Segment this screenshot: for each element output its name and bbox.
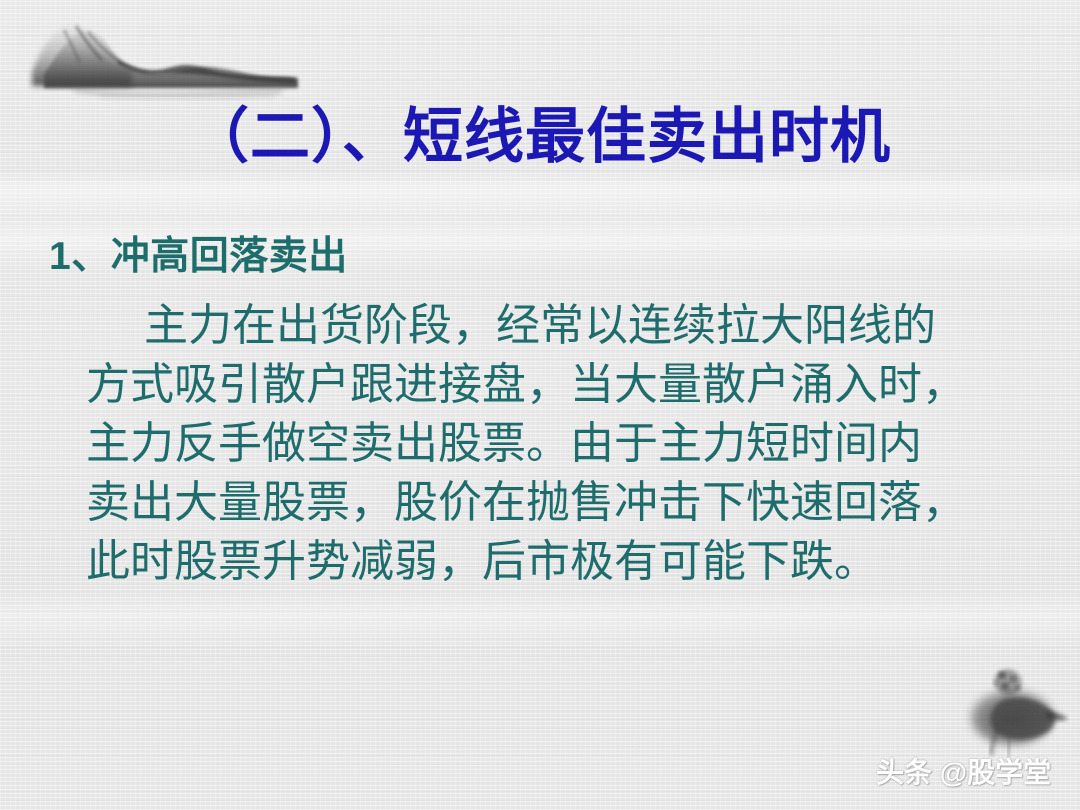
body-line: 主力在出货阶段，经常以连续拉大阳线的 <box>86 296 1016 355</box>
section-heading: 1、冲高回落卖出 <box>49 232 348 282</box>
ink-wash-mountain-icon <box>14 10 314 110</box>
body-line: 卖出大量股票，股价在抛售冲击下快速回落， <box>86 473 1016 532</box>
slide-title: （二）、短线最佳卖出时机 <box>0 101 1080 173</box>
body-paragraph: 主力在出货阶段，经常以连续拉大阳线的 方式吸引散户跟进接盘，当大量散户涌入时， … <box>86 296 1016 591</box>
presentation-slide: （二）、短线最佳卖出时机 1、冲高回落卖出 主力在出货阶段，经常以连续拉大阳线的… <box>0 0 1080 810</box>
watermark-label: 头条 @股学堂 <box>876 756 1051 790</box>
ink-wash-blossom-icon <box>958 655 1070 767</box>
body-line: 主力反手做空卖出股票。由于主力短时间内 <box>86 414 1016 473</box>
body-line: 方式吸引散户跟进接盘，当大量散户涌入时， <box>86 355 1016 414</box>
body-line: 此时股票升势减弱，后市极有可能下跌。 <box>86 532 1016 591</box>
